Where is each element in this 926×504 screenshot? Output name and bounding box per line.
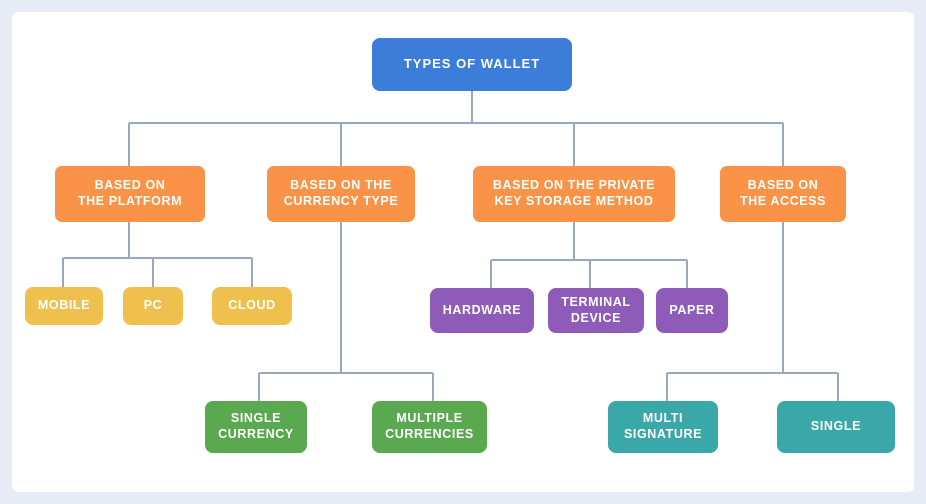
node-label: CLOUD bbox=[228, 298, 275, 314]
node-multi-signature[interactable]: MULTI SIGNATURE bbox=[608, 401, 718, 453]
node-multiple-currencies[interactable]: MULTIPLE CURRENCIES bbox=[372, 401, 487, 453]
node-label: TERMINAL DEVICE bbox=[561, 295, 630, 326]
node-paper[interactable]: PAPER bbox=[656, 288, 728, 333]
node-terminal-device[interactable]: TERMINAL DEVICE bbox=[548, 288, 644, 333]
node-label: BASED ON THE PLATFORM bbox=[78, 178, 182, 209]
node-label: SINGLE bbox=[811, 419, 861, 435]
node-label: BASED ON THE CURRENCY TYPE bbox=[284, 178, 399, 209]
node-types-of-wallet[interactable]: TYPES OF WALLET bbox=[372, 38, 572, 91]
node-label: MULTI SIGNATURE bbox=[624, 411, 702, 442]
org-chart-types-of-wallet: TYPES OF WALLET BASED ON THE PLATFORM BA… bbox=[0, 0, 926, 504]
node-pc[interactable]: PC bbox=[123, 287, 183, 325]
node-label: PC bbox=[144, 298, 163, 314]
node-mobile[interactable]: MOBILE bbox=[25, 287, 103, 325]
node-label: BASED ON THE ACCESS bbox=[740, 178, 826, 209]
node-label: TYPES OF WALLET bbox=[404, 56, 540, 72]
node-label: MOBILE bbox=[38, 298, 90, 314]
node-label: HARDWARE bbox=[443, 303, 521, 319]
node-label: PAPER bbox=[669, 303, 714, 319]
node-label: MULTIPLE CURRENCIES bbox=[385, 411, 474, 442]
node-label: BASED ON THE PRIVATE KEY STORAGE METHOD bbox=[493, 178, 655, 209]
node-based-on-the-private-key-storage-method[interactable]: BASED ON THE PRIVATE KEY STORAGE METHOD bbox=[473, 166, 675, 222]
node-hardware[interactable]: HARDWARE bbox=[430, 288, 534, 333]
node-based-on-the-platform[interactable]: BASED ON THE PLATFORM bbox=[55, 166, 205, 222]
node-single[interactable]: SINGLE bbox=[777, 401, 895, 453]
node-cloud[interactable]: CLOUD bbox=[212, 287, 292, 325]
node-based-on-the-access[interactable]: BASED ON THE ACCESS bbox=[720, 166, 846, 222]
node-based-on-the-currency-type[interactable]: BASED ON THE CURRENCY TYPE bbox=[267, 166, 415, 222]
node-label: SINGLE CURRENCY bbox=[218, 411, 294, 442]
node-single-currency[interactable]: SINGLE CURRENCY bbox=[205, 401, 307, 453]
